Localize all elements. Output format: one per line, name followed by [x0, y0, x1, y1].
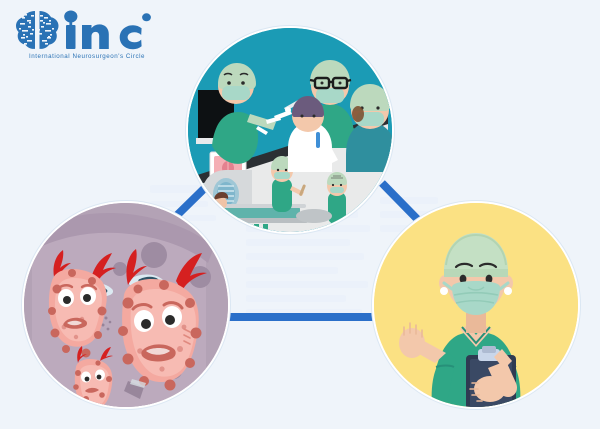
connector-surgery-to-surgeon: [382, 183, 424, 226]
surgeon-portrait-node[interactable]: [374, 203, 578, 407]
surgical-team-icon: [188, 28, 392, 232]
infographic-canvas: International Neurosurgeon's Circle: [0, 0, 600, 429]
operating-room-node[interactable]: [188, 28, 392, 232]
tumor-cells-node[interactable]: [24, 203, 228, 407]
surgeon-icon: [374, 203, 578, 407]
tumor-cell-icon: [24, 203, 228, 407]
